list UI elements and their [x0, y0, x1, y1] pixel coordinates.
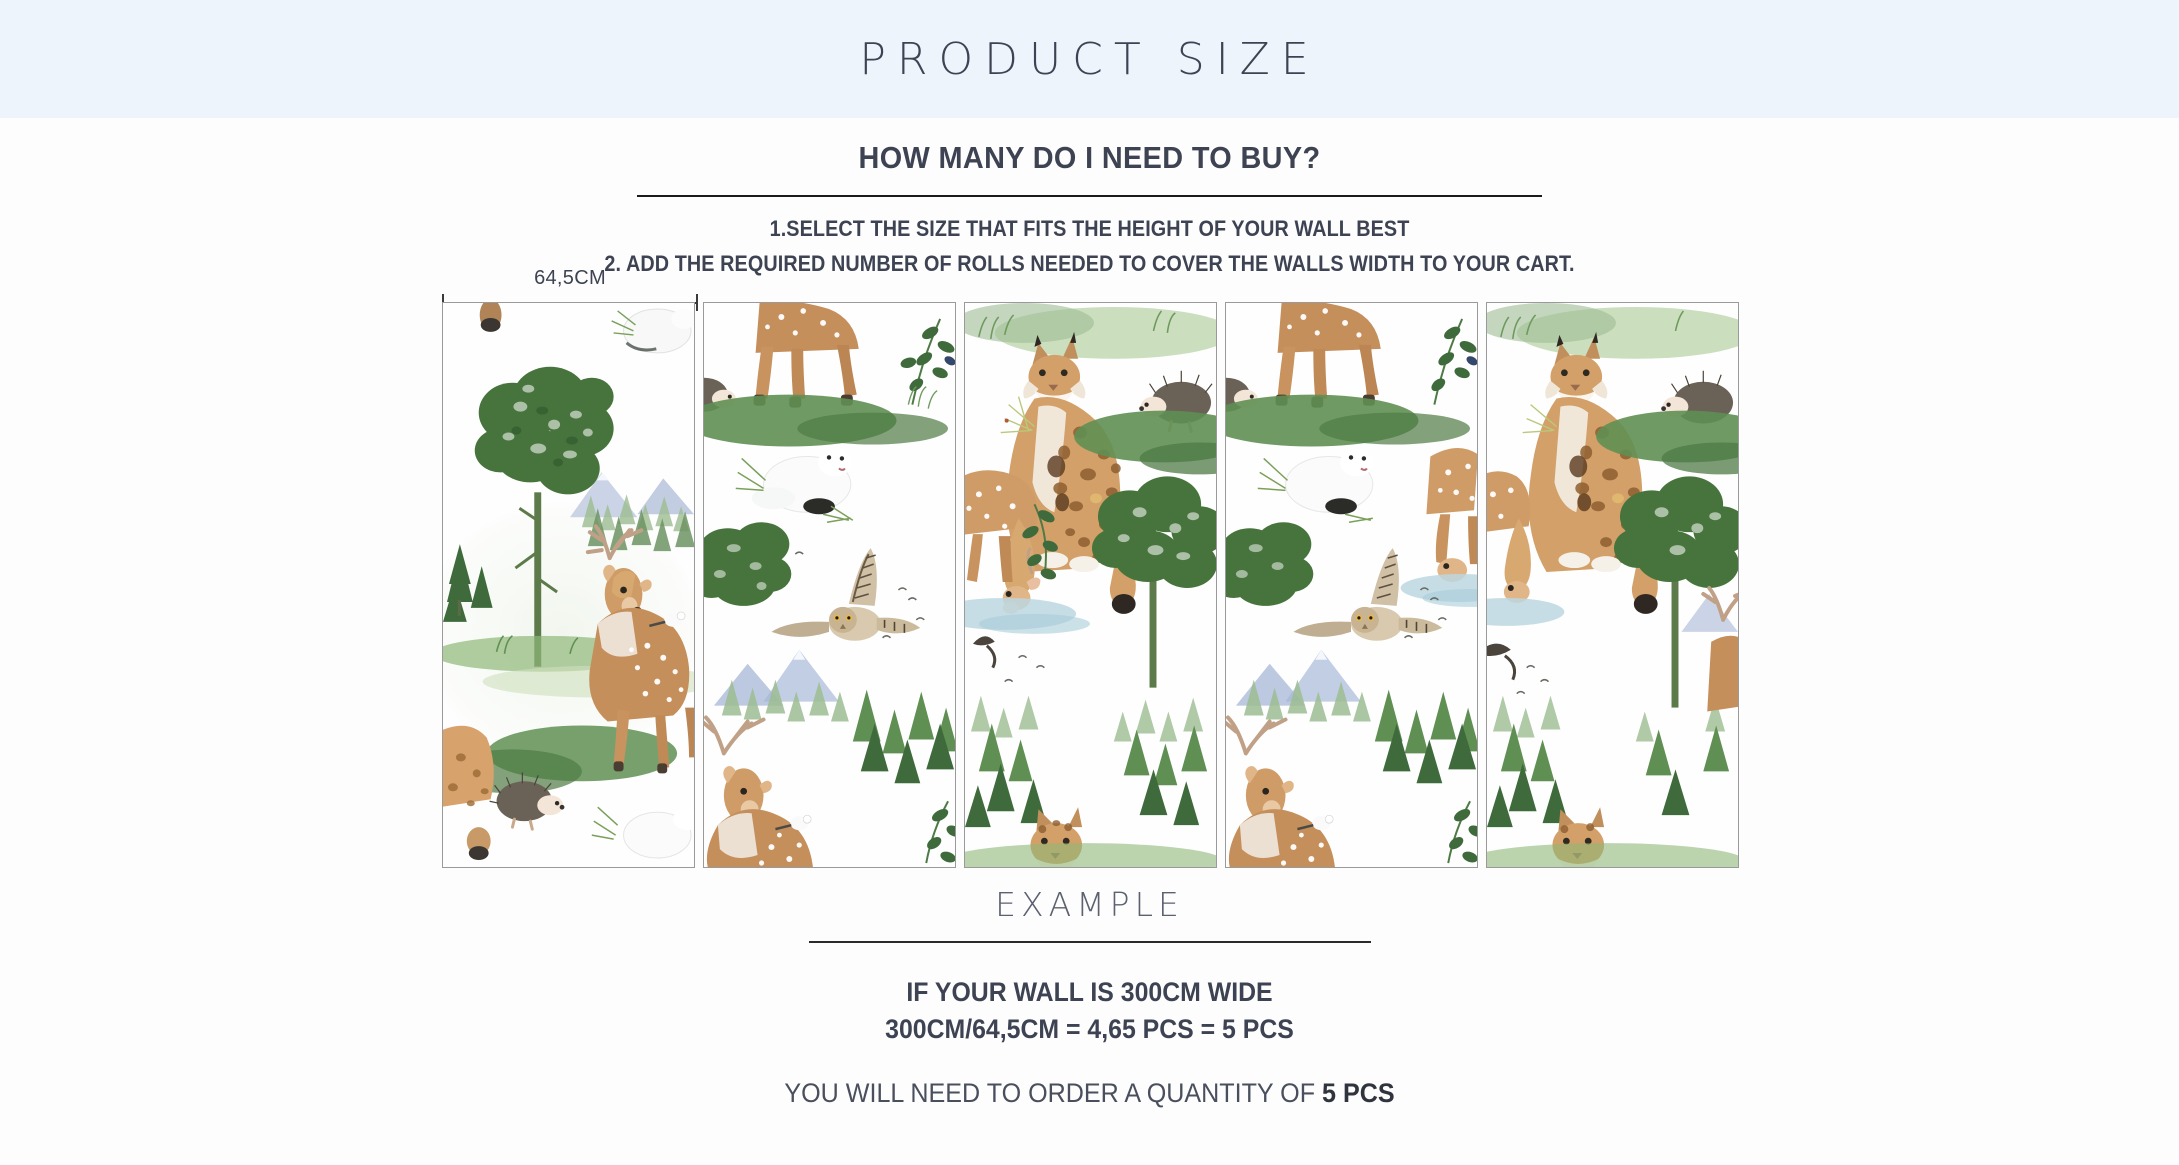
instruction-step-2: 2. ADD THE REQUIRED NUMBER OF ROLLS NEED… [109, 251, 2070, 277]
page-title: PRODUCT SIZE [859, 34, 1319, 85]
wallpaper-panel-2[interactable] [703, 302, 956, 868]
wallpaper-panel-3[interactable] [964, 302, 1217, 868]
example-calculation: 300CM/64,5CM = 4,65 PCS = 5 PCS [87, 1014, 2092, 1045]
measurement-label: 64,5CM [442, 268, 698, 288]
example-divider [809, 941, 1371, 943]
instruction-step-1: 1.SELECT THE SIZE THAT FITS THE HEIGHT O… [109, 216, 2070, 242]
example-wall-width: IF YOUR WALL IS 300CM WIDE [87, 977, 2092, 1008]
wallpaper-panel-group [442, 302, 1735, 868]
wallpaper-panel-5[interactable] [1486, 302, 1739, 868]
instructions-heading: HOW MANY DO I NEED TO BUY? [76, 140, 2102, 176]
example-title: EXAMPLE [0, 885, 2179, 924]
example-block: EXAMPLE IF YOUR WALL IS 300CM WIDE 300CM… [0, 885, 2179, 1109]
instructions-block: HOW MANY DO I NEED TO BUY? 1.SELECT THE … [0, 118, 2179, 277]
header-band: PRODUCT SIZE [0, 0, 2179, 118]
example-order-prefix: YOU WILL NEED TO ORDER A QUANTITY OF [784, 1078, 1322, 1108]
wallpaper-panel-4[interactable] [1225, 302, 1478, 868]
heading-divider [637, 195, 1542, 197]
example-order-quantity: YOU WILL NEED TO ORDER A QUANTITY OF 5 P… [76, 1078, 2102, 1109]
wallpaper-panel-1[interactable] [442, 302, 695, 868]
example-order-quantity-value: 5 PCS [1322, 1078, 1395, 1108]
